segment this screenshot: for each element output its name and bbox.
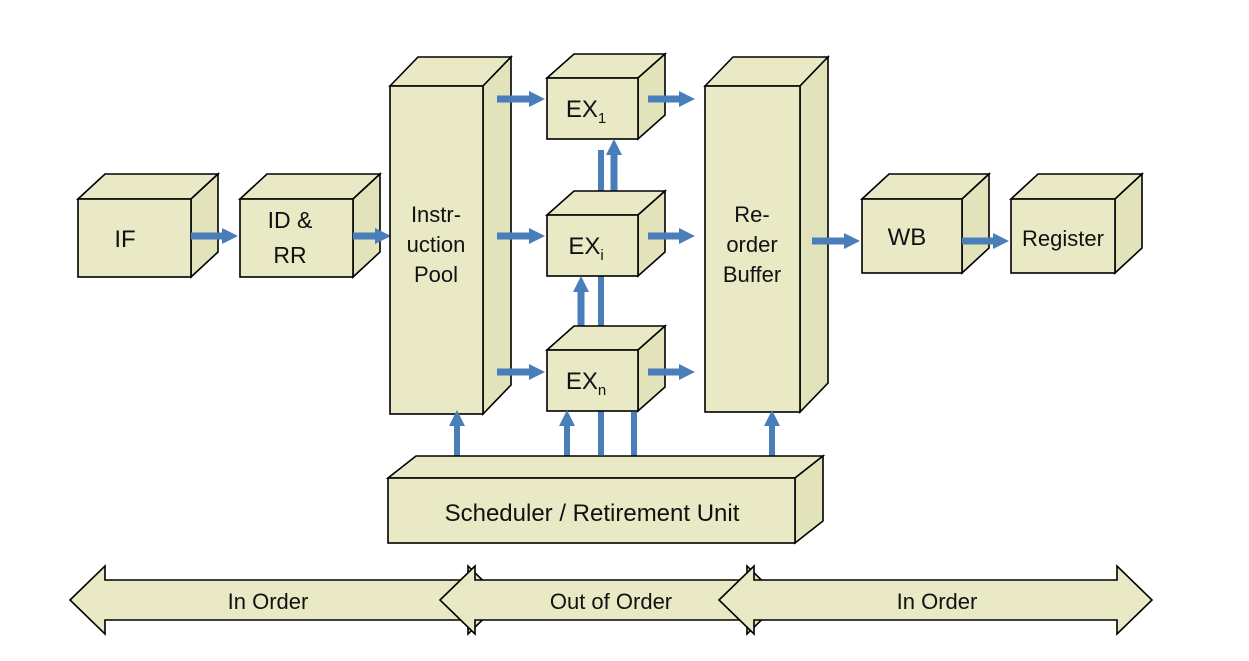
pool-label-line3: Pool <box>414 262 458 287</box>
block-wb: WB <box>862 174 989 273</box>
block-instruction-pool: Instr- uction Pool <box>390 57 511 414</box>
idrr-label-line1: ID & <box>268 207 313 233</box>
scheduler-top-face <box>388 456 823 478</box>
diagram-canvas: IF ID & RR Instr- uction Pool <box>0 0 1249 661</box>
banner-out-of-order-label: Out of Order <box>550 589 672 614</box>
block-reorder-buffer: Re- order Buffer <box>705 57 828 412</box>
banner-in-order-front-label: In Order <box>228 589 309 614</box>
exi-label: EXi <box>568 233 603 264</box>
rob-label-line3: Buffer <box>723 262 781 287</box>
rob-label-line1: Re- <box>734 202 769 227</box>
block-exi: EXi <box>547 191 665 276</box>
block-exn: EXn <box>547 326 665 411</box>
pool-label-line2: uction <box>407 232 466 257</box>
block-id-rr: ID & RR <box>240 174 380 277</box>
banner-in-order-front: In Order <box>70 566 503 634</box>
rob-side-face <box>800 57 828 412</box>
pool-label-line1: Instr- <box>411 202 461 227</box>
register-label: Register <box>1022 226 1104 251</box>
rob-label-line2: order <box>726 232 777 257</box>
block-register: Register <box>1011 174 1142 273</box>
pipeline-diagram: IF ID & RR Instr- uction Pool <box>0 0 1249 661</box>
banner-in-order-back: In Order <box>719 566 1152 634</box>
if-label: IF <box>114 226 135 253</box>
scheduler-label: Scheduler / Retirement Unit <box>445 500 740 527</box>
arrow-exi-to-ex1 <box>606 139 622 192</box>
arrow-exn-to-exi <box>573 276 589 328</box>
block-ex1: EX1 <box>547 54 665 139</box>
block-if: IF <box>78 174 218 277</box>
banner-in-order-back-label: In Order <box>897 589 978 614</box>
block-scheduler: Scheduler / Retirement Unit <box>388 456 823 543</box>
wb-label: WB <box>888 224 927 251</box>
idrr-label-line2: RR <box>273 242 306 268</box>
